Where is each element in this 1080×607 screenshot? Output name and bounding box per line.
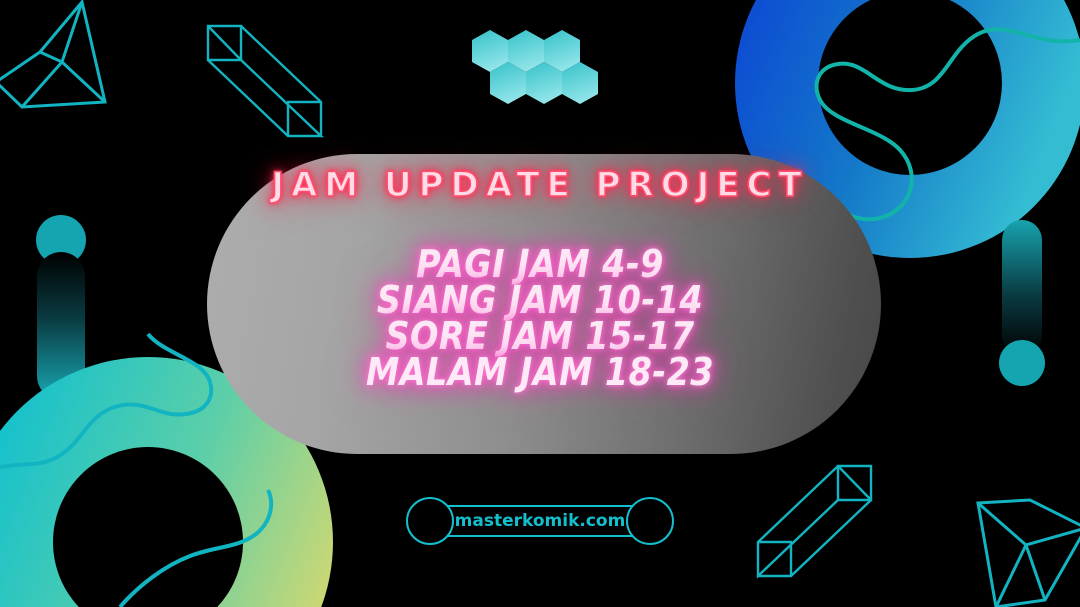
teal-wave-bottom-left-lower bbox=[120, 490, 271, 607]
website-badge[interactable]: masterkomik.com bbox=[406, 497, 674, 545]
wireframe-box-top-left bbox=[208, 26, 321, 136]
schedule-item-siang: SIANG JAM 10-14 bbox=[65, 282, 1015, 318]
hexagon-cluster-top bbox=[472, 30, 598, 104]
website-url: masterkomik.com bbox=[406, 497, 674, 545]
schedule-item-sore: SORE JAM 15-17 bbox=[65, 318, 1015, 354]
schedule-list: PAGI JAM 4-9 SIANG JAM 10-14 SORE JAM 15… bbox=[0, 246, 1080, 390]
schedule-item-pagi: PAGI JAM 4-9 bbox=[65, 246, 1015, 282]
schedule-item-malam: MALAM JAM 18-23 bbox=[65, 354, 1015, 390]
page-title: JAM UPDATE PROJECT bbox=[0, 168, 1080, 202]
wireframe-box-bottom-right bbox=[758, 466, 871, 576]
wireframe-tetrahedron-top-left bbox=[0, 2, 105, 107]
wireframe-tetrahedron-bottom-right bbox=[978, 500, 1080, 607]
poster-canvas: JAM UPDATE PROJECT PAGI JAM 4-9 SIANG JA… bbox=[0, 0, 1080, 607]
